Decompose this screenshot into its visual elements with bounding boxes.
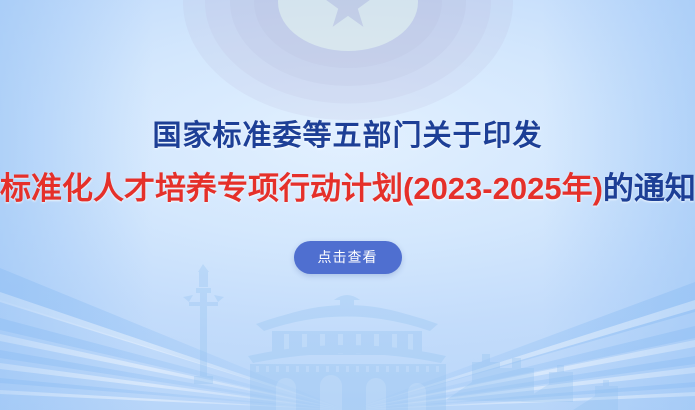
emblem-ring-inner (278, 0, 418, 51)
emblem-ring-3 (230, 0, 466, 86)
emblem-ring-outer (183, 0, 513, 120)
cta-container: 点击查看 (0, 241, 695, 274)
national-emblem-decoration (183, 0, 513, 122)
emblem-ring-4 (254, 0, 442, 68)
page-title-plan-name: 标准化人才培养专项行动计划(2023-2025年) (0, 171, 603, 206)
emblem-ring-2 (205, 0, 491, 104)
banner-headline: 国家标准委等五部门关于印发 标准化人才培养专项行动计划(2023-2025年)的… (0, 118, 695, 208)
light-ray-fan-decoration (0, 0, 695, 410)
edge-vignette (0, 0, 695, 410)
view-details-button[interactable]: 点击查看 (294, 241, 402, 274)
page-title-notice-suffix: 的通知 (603, 171, 695, 206)
tiananmen-skyline-decoration (0, 250, 695, 410)
page-title-line-1: 国家标准委等五部门关于印发 (0, 118, 695, 154)
star-icon (321, 0, 375, 31)
page-title-line-2: 标准化人才培养专项行动计划(2023-2025年)的通知 (0, 170, 695, 208)
policy-banner: 国家标准委等五部门关于印发 标准化人才培养专项行动计划(2023-2025年)的… (0, 0, 695, 410)
